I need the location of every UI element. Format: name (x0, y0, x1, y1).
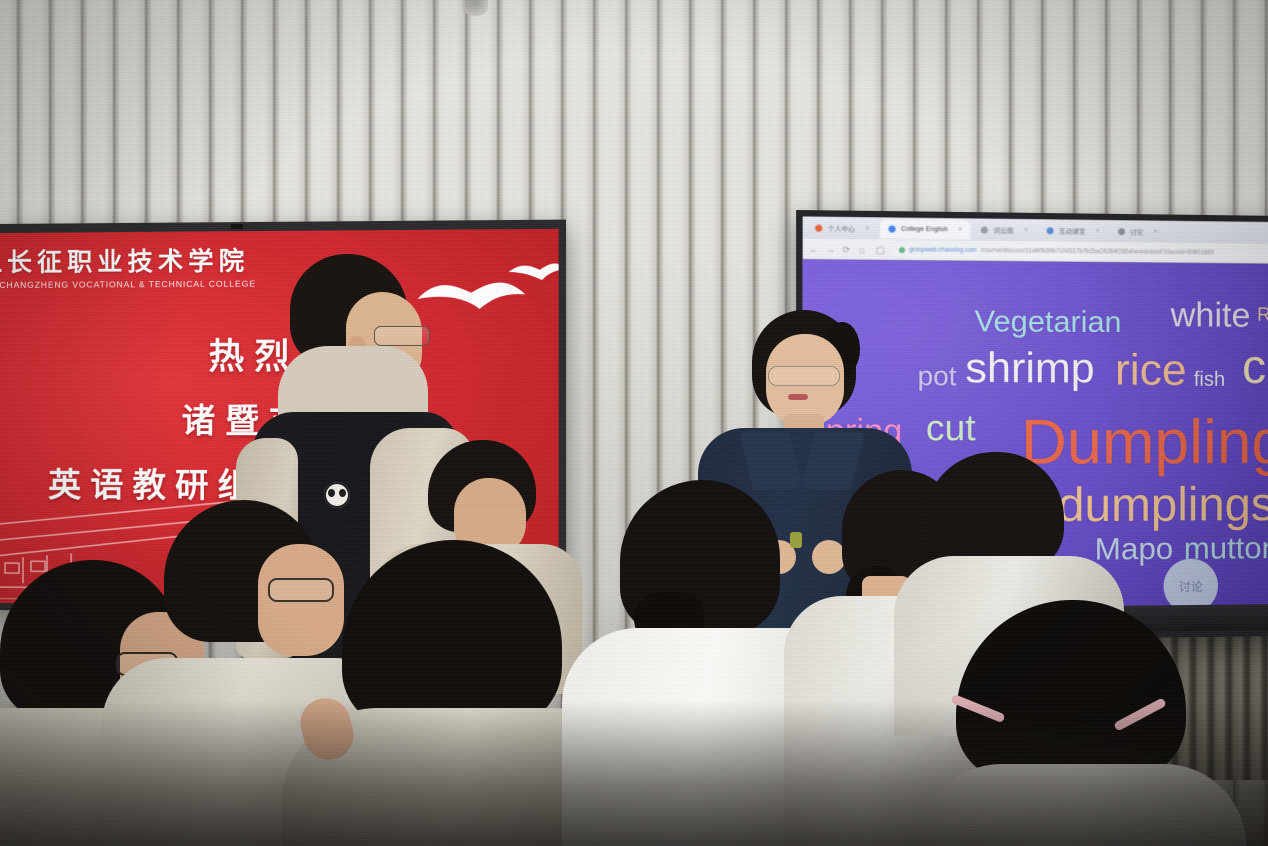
bookmark-icon[interactable]: ▢ (876, 245, 885, 254)
forward-arrow-icon[interactable]: → (826, 245, 835, 254)
tab-favicon-icon (1047, 227, 1054, 234)
lips (788, 394, 808, 400)
word-cloud-term[interactable]: fish (1194, 370, 1225, 390)
word-cloud-term[interactable]: shrimp (965, 347, 1094, 390)
tab-label: 词云图 (993, 225, 1013, 235)
tab-favicon-icon (815, 224, 822, 231)
url-host: groupweb.chaoxing.com (909, 247, 976, 254)
hair (924, 452, 1064, 572)
tab-close-icon[interactable]: × (1096, 227, 1100, 234)
word-cloud-term[interactable]: cut (926, 410, 976, 447)
browser-tab-4[interactable]: 讨论× (1110, 221, 1166, 241)
browser-tab-2[interactable]: 词云图× (973, 220, 1036, 240)
hair (956, 600, 1186, 780)
home-icon[interactable]: ⌂ (859, 245, 868, 254)
word-cloud-term[interactable]: Ro (1257, 306, 1268, 325)
hair (342, 540, 562, 730)
tab-label: 讨论 (1130, 226, 1143, 236)
eyeglasses (768, 366, 840, 386)
tab-close-icon[interactable]: × (865, 225, 869, 232)
tab-close-icon[interactable]: × (1024, 226, 1028, 233)
word-cloud-term[interactable]: ch (1242, 344, 1268, 392)
tab-label: 个人中心 (828, 223, 855, 234)
reload-icon[interactable]: ⟳ (842, 245, 851, 254)
browser-tab-0[interactable]: 个人中心× (807, 218, 878, 238)
url-path: /course/discuss/21a60b39b7c0d317b7b2ba26… (981, 248, 1214, 256)
college-logo: 浙江长征职业技术学院 ZHEJIANG CHANGZHENG VOCATIONA… (0, 241, 256, 290)
college-name-chinese: 浙江长征职业技术学院 (0, 241, 256, 279)
browser-tab-1[interactable]: College English× (880, 219, 971, 239)
tab-label: 互动课堂 (1059, 225, 1086, 235)
eyeglasses (374, 326, 430, 346)
tab-favicon-icon (888, 225, 895, 232)
audience-student-7 (930, 600, 1230, 846)
url-input[interactable]: groupweb.chaoxing.com /course/discuss/21… (893, 243, 1268, 260)
tab-label: College English (901, 225, 948, 233)
browser-chrome: 个人中心×College English×词云图×互动课堂×讨论× ← → ⟳ … (802, 216, 1268, 264)
sweatshirt (916, 764, 1246, 846)
word-cloud-term[interactable]: rice (1115, 348, 1187, 393)
tab-favicon-icon (981, 226, 988, 233)
webcam-icon (231, 224, 243, 229)
college-name-english: ZHEJIANG CHANGZHENG VOCATIONAL & TECHNIC… (0, 279, 256, 291)
ceiling-speaker-icon (462, 0, 488, 16)
browser-tab-3[interactable]: 互动课堂× (1038, 221, 1108, 241)
word-cloud-term[interactable]: Vegetarian (975, 307, 1122, 338)
tab-favicon-icon (1118, 228, 1125, 235)
classroom-photo-scene: 浙江长征职业技术学院 ZHEJIANG CHANGZHENG VOCATIONA… (0, 0, 1268, 846)
word-cloud-term[interactable]: white (1171, 298, 1251, 333)
tab-close-icon[interactable]: × (1154, 228, 1158, 235)
lock-icon (899, 247, 905, 253)
word-cloud-term[interactable]: pot (918, 363, 957, 391)
tab-close-icon[interactable]: × (958, 226, 962, 233)
back-arrow-icon[interactable]: ← (809, 245, 818, 254)
